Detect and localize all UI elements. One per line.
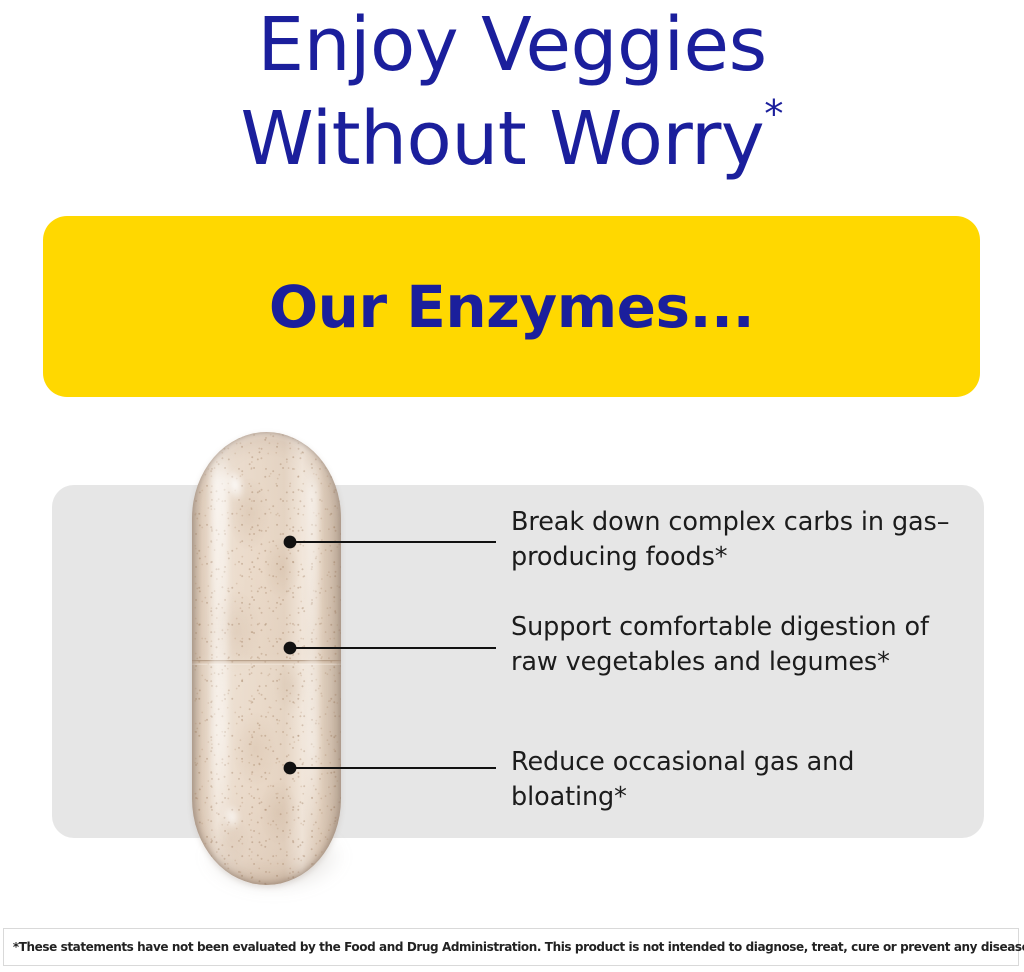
- fda-disclaimer-text: *These statements have not been evaluate…: [4, 939, 1024, 955]
- headline-asterisk: *: [764, 92, 783, 137]
- headline-line-1: Enjoy Veggies: [0, 0, 1024, 92]
- capsule-body: [192, 432, 341, 885]
- capsule-highlight-right: [306, 458, 319, 848]
- enzymes-banner: Our Enzymes...: [43, 216, 980, 397]
- page-title: Enjoy Veggies Without Worry*: [0, 0, 1024, 186]
- capsule-highlight-left: [211, 454, 228, 854]
- banner-label: Our Enzymes...: [269, 276, 754, 338]
- benefit-item-break-down-carbs: Break down complex carbs in gas–producin…: [511, 505, 951, 575]
- benefit-item-support-digestion: Support comfortable digestion of raw veg…: [511, 610, 969, 680]
- headline-line-2: Without Worry*: [0, 92, 1024, 186]
- capsule-image: [186, 425, 361, 905]
- benefit-item-reduce-gas-bloating: Reduce occasional gas and bloating*: [511, 745, 911, 815]
- headline-line-2-text: Without Worry: [241, 96, 765, 182]
- fda-disclaimer-box: *These statements have not been evaluate…: [3, 928, 1019, 966]
